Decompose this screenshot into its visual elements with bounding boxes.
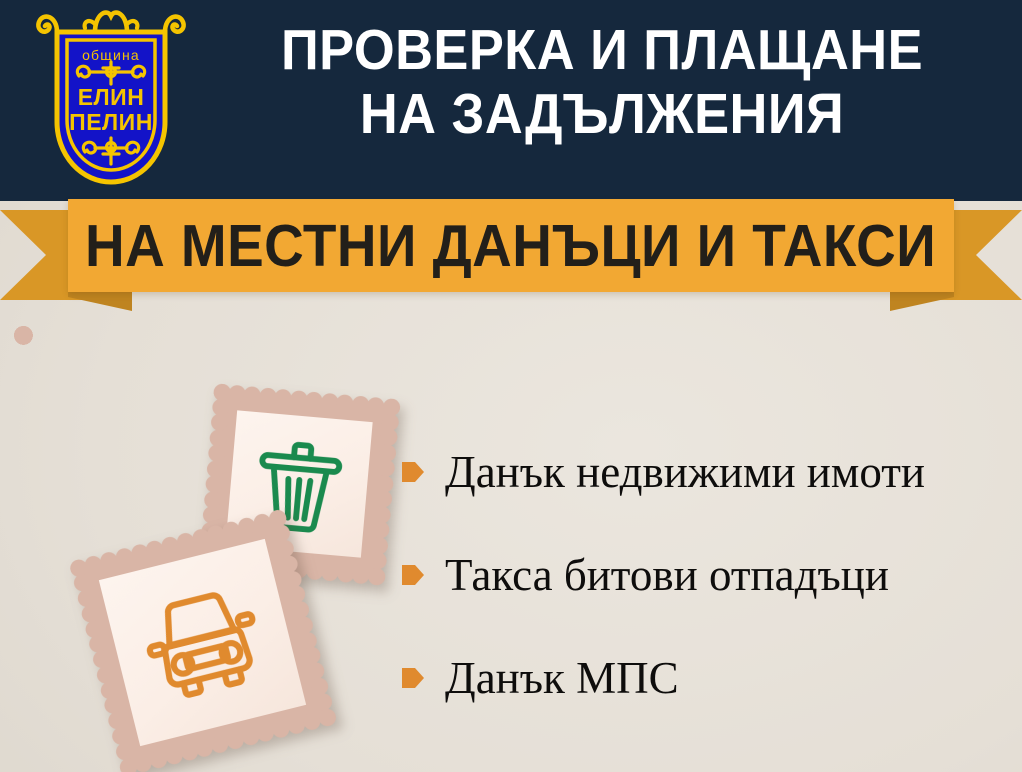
poster-canvas: община ЕЛИН ПЕЛИН	[0, 0, 1022, 772]
list-item: Данък недвижими имоти	[402, 420, 1012, 523]
stamp-paper	[99, 539, 306, 746]
svg-text:ЕЛИН: ЕЛИН	[78, 84, 145, 110]
stamp-card-house	[13, 308, 227, 522]
ribbon-label: НА МЕСТНИ ДАНЪЦИ И ТАКСИ	[85, 215, 936, 277]
ribbon-bar: НА МЕСТНИ ДАНЪЦИ И ТАКСИ	[68, 199, 954, 292]
car-front-icon	[130, 578, 275, 708]
list-item-label: Данък МПС	[445, 653, 679, 703]
list-item-label: Такса битови отпадъци	[445, 550, 889, 600]
ribbon-fold-left	[68, 289, 132, 311]
tax-type-list: Данък недвижими имоти Такса битови отпад…	[402, 420, 1012, 729]
coat-of-arms-shield-icon: община ЕЛИН ПЕЛИН	[33, 4, 189, 194]
subtitle-ribbon: НА МЕСТНИ ДАНЪЦИ И ТАКСИ	[0, 196, 1022, 314]
stamp-paper	[32, 327, 209, 504]
header-banner: община ЕЛИН ПЕЛИН	[0, 0, 1022, 201]
arrow-pentagon-bullet-icon	[402, 459, 424, 485]
title-line-1: ПРОВЕРКА И ПЛАЩАНЕ	[228, 18, 975, 82]
arrow-pentagon-bullet-icon	[402, 562, 424, 588]
house-icon	[57, 357, 183, 473]
list-item: Данък МПС	[402, 626, 1012, 729]
title-line-2: НА ЗАДЪЛЖЕНИЯ	[228, 82, 975, 146]
arrow-pentagon-bullet-icon	[402, 665, 424, 691]
ribbon-fold-right	[890, 289, 954, 311]
list-item-label: Данък недвижими имоти	[445, 447, 925, 497]
svg-text:ПЕЛИН: ПЕЛИН	[69, 109, 153, 135]
list-item: Такса битови отпадъци	[402, 523, 1012, 626]
poster-title: ПРОВЕРКА И ПЛАЩАНЕ НА ЗАДЪЛЖЕНИЯ	[196, 18, 1008, 146]
